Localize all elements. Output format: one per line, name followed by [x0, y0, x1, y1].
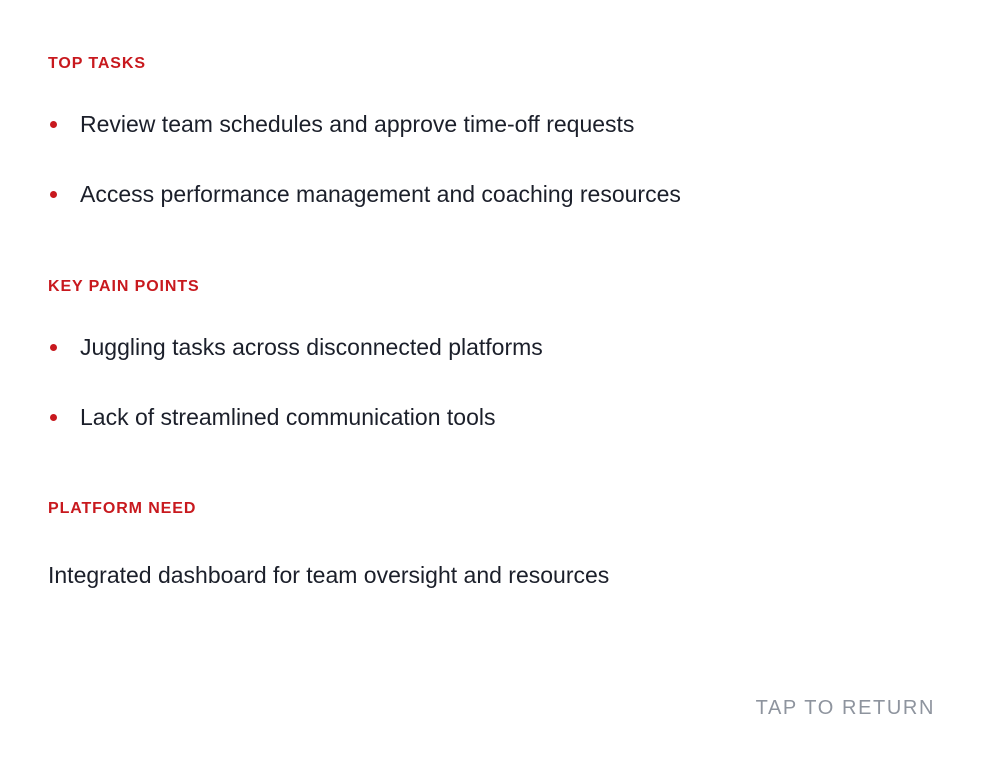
platform-need-text: Integrated dashboard for team oversight …: [48, 561, 942, 590]
section-top-tasks: TOP TASKS Review team schedules and appr…: [48, 54, 942, 209]
bullet-dot-icon: [50, 344, 57, 351]
list-item-label: Lack of streamlined communication tools: [80, 404, 495, 430]
list-item: Juggling tasks across disconnected platf…: [48, 333, 942, 362]
bullet-dot-icon: [50, 121, 57, 128]
list-item: Review team schedules and approve time-o…: [48, 110, 942, 139]
section-key-pain-points: KEY PAIN POINTS Juggling tasks across di…: [48, 277, 942, 432]
list-item: Lack of streamlined communication tools: [48, 403, 942, 432]
list-item: Access performance management and coachi…: [48, 180, 942, 209]
section-heading-key-pain-points: KEY PAIN POINTS: [48, 277, 942, 296]
list-item-label: Access performance management and coachi…: [80, 181, 681, 207]
persona-detail-card: TOP TASKS Review team schedules and appr…: [0, 0, 990, 776]
tap-to-return-label[interactable]: TAP TO RETURN: [756, 698, 935, 718]
list-item-label: Juggling tasks across disconnected platf…: [80, 334, 543, 360]
bullet-dot-icon: [50, 414, 57, 421]
key-pain-points-list: Juggling tasks across disconnected platf…: [48, 333, 942, 432]
top-tasks-list: Review team schedules and approve time-o…: [48, 110, 942, 209]
section-heading-platform-need: PLATFORM NEED: [48, 499, 942, 518]
bullet-dot-icon: [50, 191, 57, 198]
section-heading-top-tasks: TOP TASKS: [48, 54, 942, 73]
section-platform-need: PLATFORM NEED Integrated dashboard for t…: [48, 499, 942, 589]
list-item-label: Review team schedules and approve time-o…: [80, 111, 634, 137]
